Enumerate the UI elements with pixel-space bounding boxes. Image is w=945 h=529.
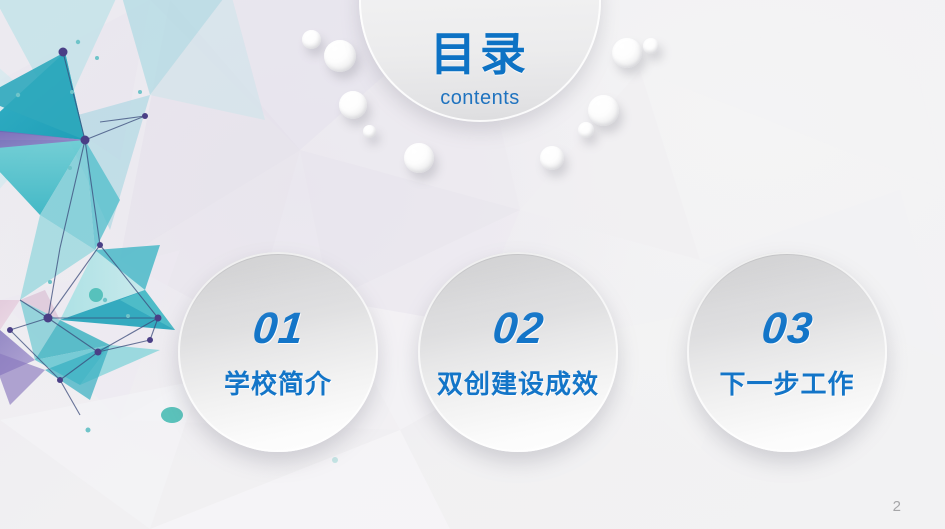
agenda-item-01[interactable]: 01 学校简介	[178, 252, 378, 452]
decor-bubble	[643, 38, 659, 54]
slide-canvas: 目录 contents 01 学校简介 02 双创建设成效 03 下一步工作 2	[0, 0, 945, 529]
agenda-number-02: 02	[490, 307, 546, 351]
agenda-label-02: 双创建设成效	[437, 371, 599, 397]
accent-dot-teal	[161, 407, 183, 423]
agenda-number-03: 03	[759, 307, 815, 351]
agenda-label-01: 学校简介	[224, 371, 332, 397]
decor-bubble	[612, 38, 642, 68]
decor-bubble	[363, 125, 376, 138]
agenda-item-03[interactable]: 03 下一步工作	[687, 252, 887, 452]
agenda-label-03: 下一步工作	[719, 371, 854, 397]
decor-bubble	[339, 91, 367, 119]
page-title: 目录	[430, 31, 530, 77]
decor-bubble	[540, 146, 564, 170]
decor-bubble	[302, 30, 321, 49]
accent-dot-large	[89, 288, 103, 302]
decor-bubble	[578, 122, 594, 138]
decor-bubble	[324, 40, 356, 72]
agenda-number-01: 01	[250, 307, 306, 351]
decor-bubble	[404, 143, 434, 173]
decor-bubble	[588, 95, 619, 126]
page-subtitle: contents	[440, 87, 520, 110]
page-number: 2	[893, 498, 901, 515]
agenda-item-02[interactable]: 02 双创建设成效	[418, 252, 618, 452]
